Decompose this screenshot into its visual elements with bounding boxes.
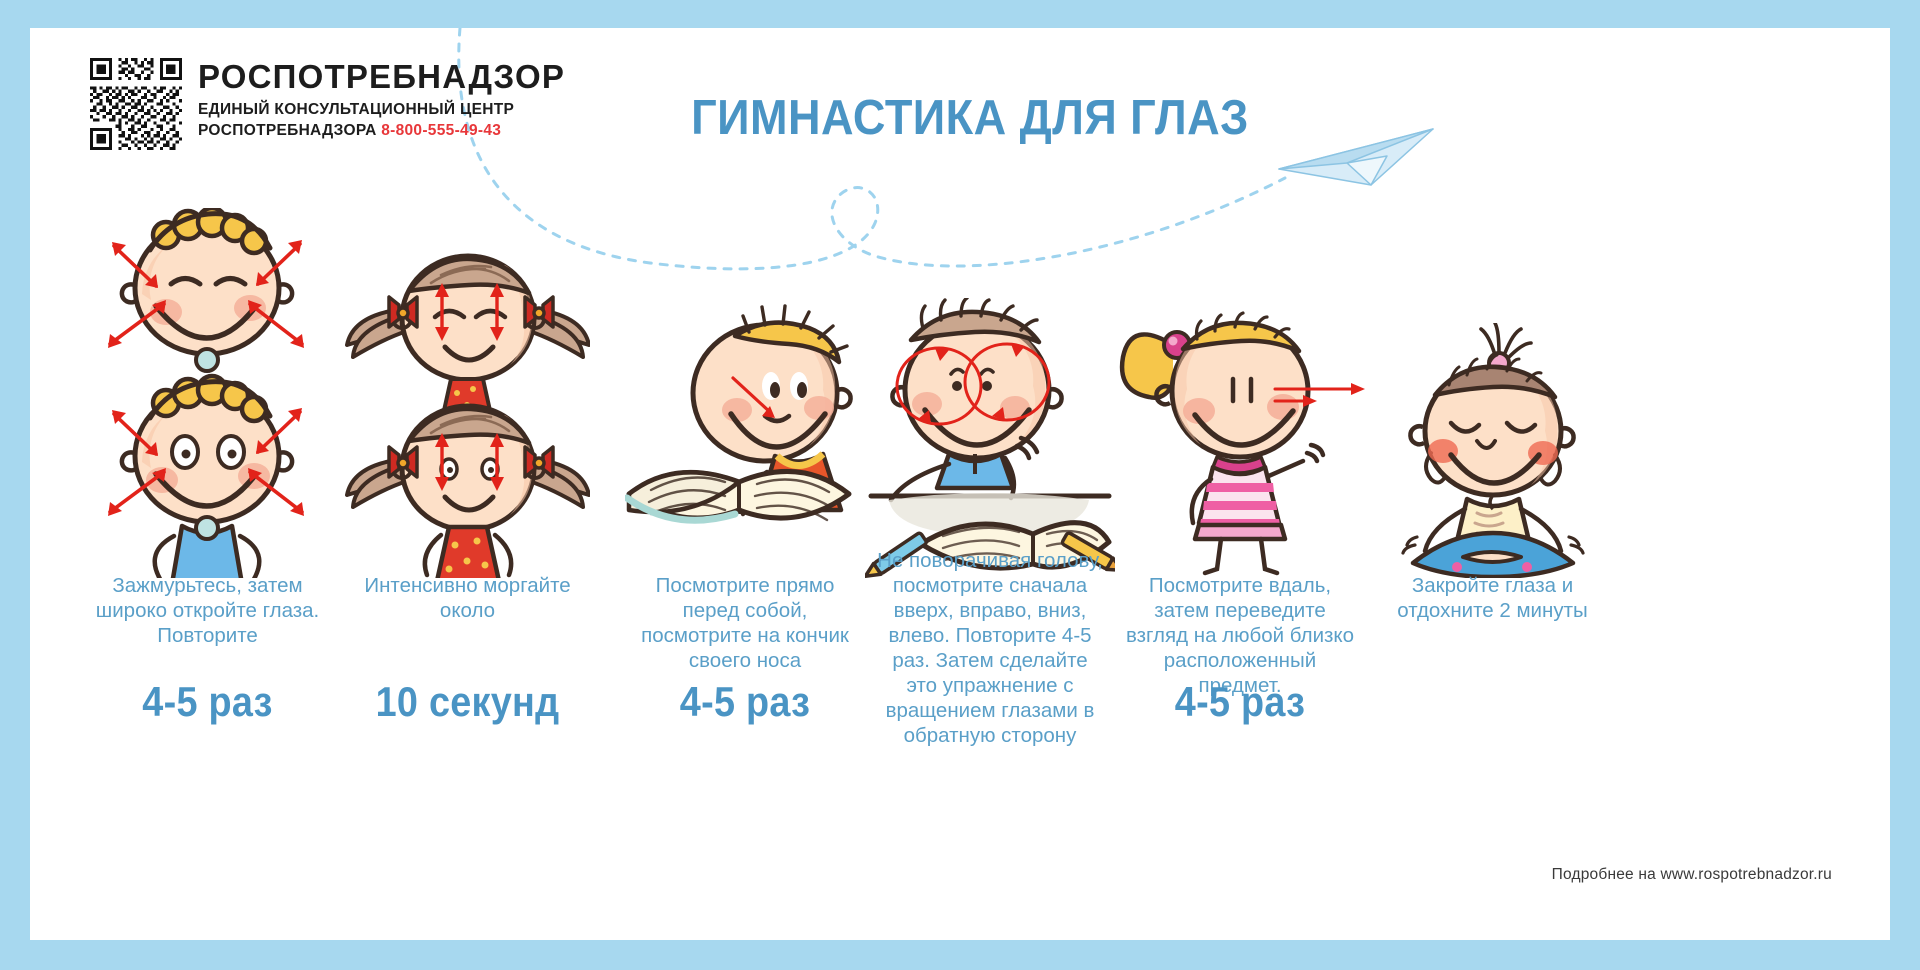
hotline-number[interactable]: 8-800-555-49-43 xyxy=(381,122,501,139)
exercise-caption: Не поворачивая голову, посмотрите сначал… xyxy=(865,548,1115,748)
figure-boy-reading-book xyxy=(625,298,865,578)
figure-boy-squinting-and-wide-eyes xyxy=(70,208,345,578)
brand-subtitle-text: РОСПОТРЕБНАДЗОРА xyxy=(198,122,377,139)
exercise-caption: Закройте глаза и отдохните 2 минуты xyxy=(1365,573,1620,623)
brand-subtitle-line1: ЕДИНЫЙ КОНСУЛЬТАЦИОННЫЙ ЦЕНТР xyxy=(198,100,565,121)
exercise-card-far-near-focus: Посмотрите вдаль, затем переведите взгля… xyxy=(1115,188,1365,888)
exercise-caption: Интенсивно моргайте около xyxy=(345,573,590,623)
poster-canvas: РОСПОТРЕБНАДЗОР ЕДИНЫЙ КОНСУЛЬТАЦИОННЫЙ … xyxy=(30,28,1890,940)
exercise-card-blink: Интенсивно моргайте около 10 секунд xyxy=(345,188,590,888)
figure-girl-pointing-far xyxy=(1115,283,1365,578)
figure-girl-blinking-pigtails xyxy=(345,243,590,578)
brand-name: РОСПОТРЕБНАДЗОР xyxy=(198,60,565,95)
exercise-card-squeeze-eyes: Зажмурьтесь, затем широко откройте глаза… xyxy=(70,188,345,888)
paper-plane-icon xyxy=(1275,123,1445,193)
header: РОСПОТРЕБНАДЗОР ЕДИНЫЙ КОНСУЛЬТАЦИОННЫЙ … xyxy=(30,28,1890,188)
brand-block: РОСПОТРЕБНАДЗОР ЕДИНЫЙ КОНСУЛЬТАЦИОННЫЙ … xyxy=(90,58,565,150)
row-spacer-1 xyxy=(590,188,625,888)
exercise-row: Зажмурьтесь, затем широко откройте глаза… xyxy=(30,188,1890,888)
brand-subtitle-line2: РОСПОТРЕБНАДЗОРА 8-800-555-49-43 xyxy=(198,121,565,142)
page-title: ГИМНАСТИКА ДЛЯ ГЛАЗ xyxy=(620,90,1319,146)
footer-note[interactable]: Подробнее на www.rospotrebnadzor.ru xyxy=(1552,866,1832,884)
exercise-caption: Посмотрите прямо перед собой, посмотрите… xyxy=(625,573,865,673)
exercise-card-nose-tip: Посмотрите прямо перед собой, посмотрите… xyxy=(625,188,865,888)
exercise-card-rest-eyes: Закройте глаза и отдохните 2 минуты xyxy=(1365,188,1620,888)
row-spacer-left xyxy=(30,188,70,888)
exercise-caption: Зажмурьтесь, затем широко откройте глаза… xyxy=(70,573,345,648)
qr-code-icon xyxy=(90,58,182,150)
exercise-emphasis: 4-5 раз xyxy=(84,678,332,726)
figure-child-meditating xyxy=(1365,323,1620,578)
figure-boy-at-desk-eye-circles xyxy=(865,298,1115,578)
brand-text-block: РОСПОТРЕБНАДЗОР ЕДИНЫЙ КОНСУЛЬТАЦИОННЫЙ … xyxy=(198,58,565,141)
exercise-emphasis: 4-5 раз xyxy=(637,678,853,726)
exercise-emphasis: 4-5 раз xyxy=(1128,678,1353,726)
exercise-card-eye-rotation: Не поворачивая голову, посмотрите сначал… xyxy=(865,188,1115,888)
exercise-emphasis: 10 секунд xyxy=(357,678,578,726)
